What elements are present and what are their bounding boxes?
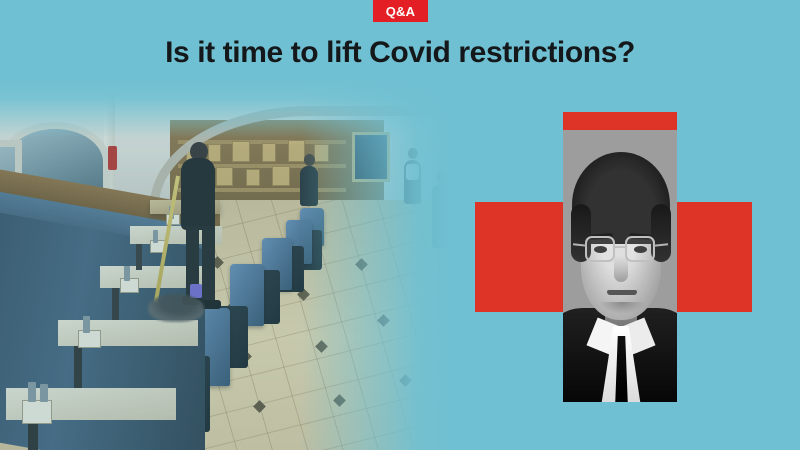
expert-portrait <box>563 130 677 402</box>
qa-card: Q&A Is it time to lift Covid restriction… <box>0 0 800 450</box>
glasses-icon <box>625 236 655 262</box>
qa-badge-label: Q&A <box>386 5 416 18</box>
page-title: Is it time to lift Covid restrictions? <box>0 36 800 70</box>
glasses-icon <box>585 236 615 262</box>
portrait-mouth <box>607 290 637 295</box>
restaurant-interior-photo <box>0 80 450 450</box>
glasses-bridge <box>615 246 627 248</box>
portrait-nose <box>614 256 628 282</box>
photo-fade-right <box>300 80 450 450</box>
portrait-chin-shadow <box>599 302 645 314</box>
qa-badge: Q&A <box>373 0 428 22</box>
